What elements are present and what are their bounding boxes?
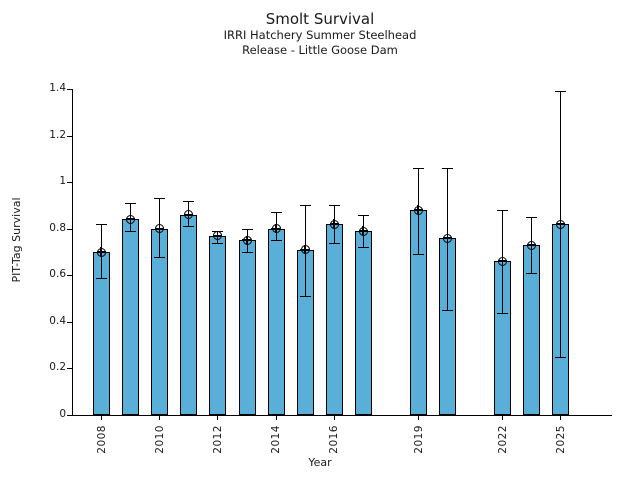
bar xyxy=(326,224,343,415)
y-tick xyxy=(67,136,72,137)
error-bar-cap-upper xyxy=(183,201,194,202)
y-tick xyxy=(67,415,72,416)
error-bar-cap-upper xyxy=(555,91,566,92)
bar xyxy=(239,240,256,415)
error-bar-cap-upper xyxy=(96,224,107,225)
error-bar-cap-upper xyxy=(300,205,311,206)
error-bar-cap-lower xyxy=(413,254,424,255)
y-tick-label: 1 xyxy=(26,175,66,187)
x-tick-label: 2016 xyxy=(328,425,340,454)
chart-figure: Smolt Survival IRRI Hatchery Summer Stee… xyxy=(0,0,640,480)
error-bar-cap-lower xyxy=(300,296,311,297)
y-tick xyxy=(67,368,72,369)
data-point-marker xyxy=(498,257,507,266)
chart-subtitle-hatchery: IRRI Hatchery Summer Steelhead xyxy=(0,28,640,43)
bar xyxy=(268,229,285,415)
error-bar-cap-lower xyxy=(183,226,194,227)
y-tick-label: 0 xyxy=(26,408,66,420)
y-axis-title: PIT-Tag Survival xyxy=(10,197,23,282)
x-tick xyxy=(334,415,335,420)
error-bar-cap-upper xyxy=(271,212,282,213)
error-bar-cap-lower xyxy=(271,240,282,241)
page-title: Smolt Survival xyxy=(0,10,640,28)
data-point-marker xyxy=(243,236,252,245)
bar xyxy=(355,231,372,415)
x-tick-label: 2012 xyxy=(212,425,224,454)
data-point-marker xyxy=(97,248,106,257)
y-tick xyxy=(67,89,72,90)
chart-title-block: Smolt Survival IRRI Hatchery Summer Stee… xyxy=(0,10,640,58)
error-bar-cap-upper xyxy=(497,210,508,211)
x-tick-label: 2025 xyxy=(555,425,567,454)
x-tick-label: 2019 xyxy=(413,425,425,454)
x-tick xyxy=(101,415,102,420)
error-bar-cap-lower xyxy=(526,273,537,274)
bar xyxy=(209,236,226,415)
x-tick xyxy=(502,415,503,420)
error-bar-cap-lower xyxy=(358,247,369,248)
x-tick xyxy=(418,415,419,420)
data-point-marker xyxy=(359,227,368,236)
error-bar-cap-lower xyxy=(497,313,508,314)
y-tick xyxy=(67,229,72,230)
error-bar-cap-upper xyxy=(526,217,537,218)
x-tick-label: 2014 xyxy=(270,425,282,454)
x-axis-line xyxy=(72,415,612,416)
y-tick-label: 0.4 xyxy=(26,315,66,327)
x-tick xyxy=(217,415,218,420)
error-bar-cap-upper xyxy=(329,205,340,206)
error-bar-cap-upper xyxy=(242,229,253,230)
bar xyxy=(122,219,139,415)
error-bar-cap-lower xyxy=(154,257,165,258)
error-bar-cap-upper xyxy=(413,168,424,169)
error-bar-cap-upper xyxy=(125,203,136,204)
y-tick xyxy=(67,322,72,323)
y-axis-line xyxy=(72,89,73,415)
error-bar-cap-lower xyxy=(242,252,253,253)
bar xyxy=(180,215,197,415)
data-point-marker xyxy=(272,224,281,233)
data-point-marker xyxy=(556,220,565,229)
x-axis-title: Year xyxy=(0,456,640,469)
data-point-marker xyxy=(414,206,423,215)
data-point-marker xyxy=(443,234,452,243)
y-tick xyxy=(67,275,72,276)
x-tick xyxy=(560,415,561,420)
x-tick-label: 2022 xyxy=(497,425,509,454)
error-bar-cap-upper xyxy=(154,198,165,199)
plot-area: 00.20.40.60.811.21.4 2008201020122014201… xyxy=(72,89,612,415)
x-tick-label: 2010 xyxy=(154,425,166,454)
y-tick-label: 0.6 xyxy=(26,268,66,280)
error-bar-cap-lower xyxy=(442,310,453,311)
error-bar-cap-lower xyxy=(96,278,107,279)
error-bar-cap-lower xyxy=(555,357,566,358)
x-tick xyxy=(276,415,277,420)
y-tick xyxy=(67,182,72,183)
y-tick-label: 0.8 xyxy=(26,222,66,234)
data-point-marker xyxy=(301,245,310,254)
error-bar-cap-upper xyxy=(358,215,369,216)
error-bar-cap-lower xyxy=(329,243,340,244)
error-bar-cap-lower xyxy=(212,243,223,244)
error-bar-cap-upper xyxy=(442,168,453,169)
data-point-marker xyxy=(527,241,536,250)
chart-subtitle-release: Release - Little Goose Dam xyxy=(0,43,640,58)
data-point-marker xyxy=(330,220,339,229)
data-point-marker xyxy=(126,215,135,224)
y-tick-label: 1.4 xyxy=(26,82,66,94)
x-tick-label: 2008 xyxy=(96,425,108,454)
y-tick-label: 0.2 xyxy=(26,361,66,373)
y-tick-label: 1.2 xyxy=(26,129,66,141)
x-tick xyxy=(159,415,160,420)
error-bar-cap-lower xyxy=(125,231,136,232)
